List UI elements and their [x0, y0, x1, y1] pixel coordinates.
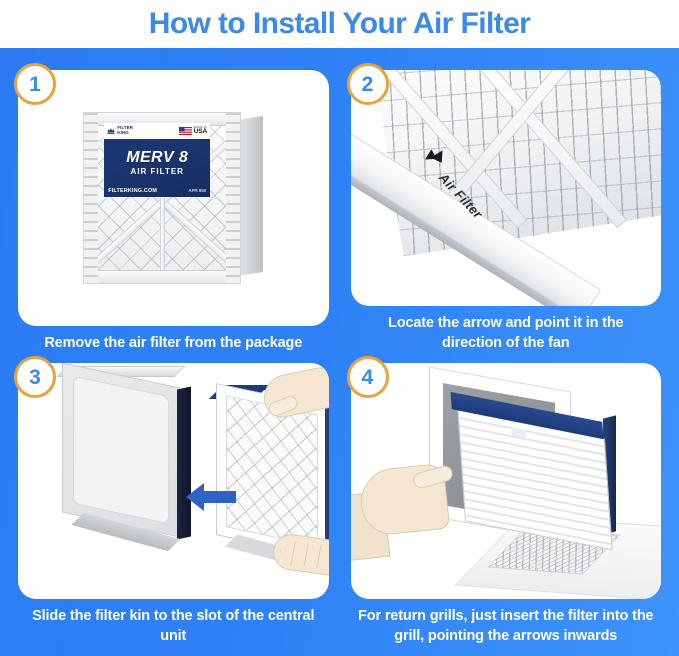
return-grill-illustration [351, 363, 662, 599]
product-label-footer: FILTERKING.COM APR 850 [108, 188, 206, 194]
made-in-usa-mark: MADE IN USA [179, 126, 208, 135]
steps-background: FILTER KING [0, 48, 679, 656]
step-3-number: 3 [29, 367, 41, 388]
step-4-caption: For return grills, just insert the filte… [351, 599, 662, 648]
air-filter-product-photo: FILTER KING [83, 112, 263, 284]
step-1-image: FILTER KING [18, 70, 329, 326]
central-unit-slot [73, 376, 169, 524]
step-1: FILTER KING [18, 70, 329, 355]
step-1-number: 1 [29, 74, 41, 95]
step-4: 4 For return grills, just insert the fil… [351, 363, 662, 648]
product-label: FILTER KING [104, 123, 210, 197]
usa-flag-icon [179, 127, 192, 135]
filter-king-logo: FILTER KING [107, 126, 133, 136]
filter-frame-bottom [84, 270, 240, 283]
step-2-number: 2 [362, 74, 374, 95]
step-4-number: 4 [362, 367, 374, 388]
apr-rating-text: APR 850 [188, 188, 206, 193]
filter-pleated-media [226, 395, 318, 547]
steps-grid: FILTER KING [0, 48, 679, 656]
website-text: FILTERKING.COM [108, 188, 157, 194]
step-4-image [351, 363, 662, 599]
page-title: How to Install Your Air Filter [149, 7, 530, 41]
slide-filter-illustration [18, 363, 329, 599]
step-3: 3 Slide the filter kin to the slot of th… [18, 363, 329, 648]
step-1-caption: Remove the air filter from the package [18, 326, 329, 355]
central-unit-dark-side [177, 387, 191, 540]
filter-front-face: FILTER KING [83, 112, 241, 284]
filter-frame-left [84, 113, 98, 283]
step-2: Air Filter AIRFLOW 2 Locate the arrow an… [351, 70, 662, 355]
filter-frame-right [226, 113, 240, 283]
step-3-caption: Slide the filter kin to the slot of the … [18, 599, 329, 648]
filter-dark-side [325, 406, 329, 561]
product-subtitle-text: AIR FILTER [104, 167, 210, 176]
step-2-image: Air Filter AIRFLOW [351, 70, 662, 306]
step-4-badge: 4 [347, 356, 389, 398]
country-text: USA [194, 129, 208, 135]
filter-corner-photo: Air Filter AIRFLOW [351, 70, 662, 306]
step-1-card: FILTER KING [18, 70, 329, 326]
brand-line-2: KING [117, 131, 133, 136]
step-2-badge: 2 [347, 63, 389, 105]
usa-text-block: MADE IN USA [194, 126, 208, 135]
product-label-header: FILTER KING [104, 123, 210, 139]
header-bar: How to Install Your Air Filter [0, 0, 679, 48]
step-3-image [18, 363, 329, 599]
brand-text: FILTER KING [117, 126, 133, 136]
step-3-card: 3 [18, 363, 329, 599]
step-1-badge: 1 [14, 63, 56, 105]
crown-icon [107, 127, 115, 135]
merv-rating-text: MERV 8 [104, 149, 210, 167]
step-2-caption: Locate the arrow and point it in the dir… [351, 306, 662, 355]
step-2-card: Air Filter AIRFLOW 2 [351, 70, 662, 306]
infographic-page: How to Install Your Air Filter [0, 0, 679, 656]
central-unit-body [62, 363, 180, 538]
step-4-card: 4 [351, 363, 662, 599]
step-3-badge: 3 [14, 356, 56, 398]
insert-direction-arrow-icon [186, 481, 236, 513]
